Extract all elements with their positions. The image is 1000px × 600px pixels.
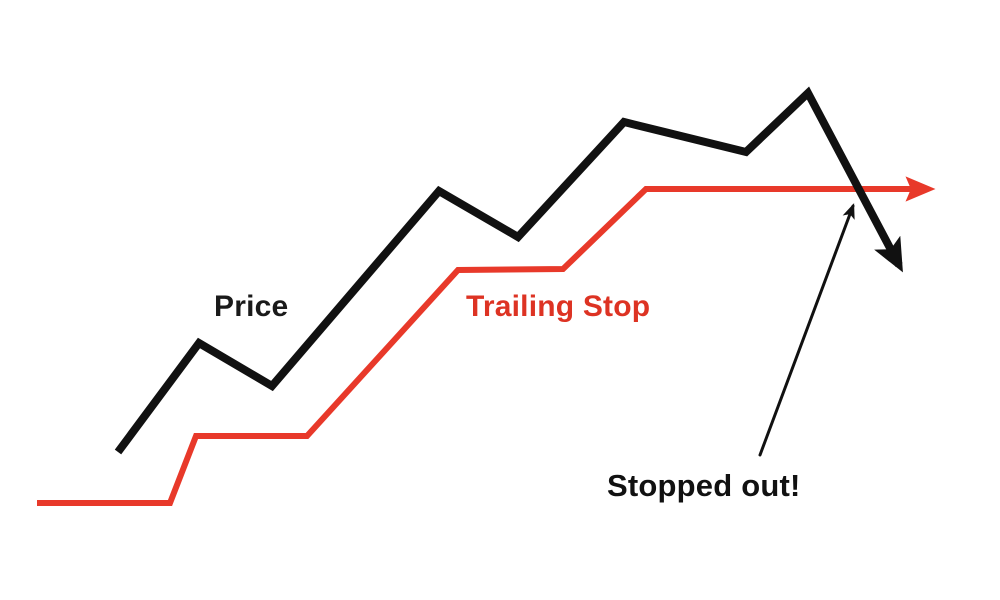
trailing-stop-line (37, 189, 928, 503)
price-series-label: Price (214, 292, 288, 322)
stopped-out-annotation-label: Stopped out! (607, 470, 801, 501)
trailing-stop-series-label: Trailing Stop (466, 292, 650, 322)
trailing-stop-diagram: Price Trailing Stop Stopped out! (0, 0, 1000, 600)
stopped-out-arrow-icon (760, 206, 853, 455)
